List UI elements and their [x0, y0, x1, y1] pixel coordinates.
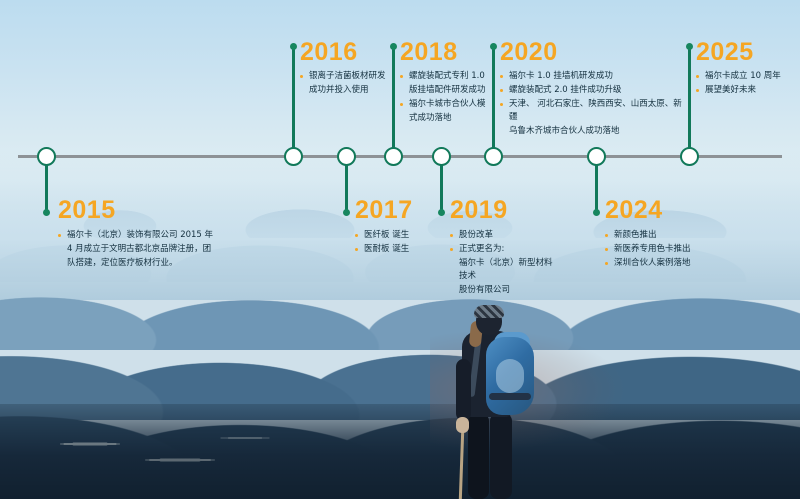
milestone-item: 深圳合伙人案例落地 — [605, 257, 735, 270]
timeline-infographic: 2016 银离子洁菌板材研发 成功并投入使用 2018 螺旋装配式专利 1.0 … — [0, 0, 800, 499]
milestone-item: 医纤板 诞生 — [355, 229, 440, 242]
hiker-leg-right — [490, 413, 512, 499]
milestone-item: 医耐板 诞生 — [355, 243, 440, 256]
backpack-panel — [496, 359, 524, 393]
milestone-item: 正式更名为: — [450, 243, 560, 256]
milestone-year-2016: 2016 — [300, 40, 392, 65]
stem-end-dot-2016 — [290, 43, 297, 50]
milestone-year-2015: 2015 — [58, 198, 238, 223]
milestone-item: 新颜色推出 — [605, 229, 735, 242]
backpack-belt — [489, 393, 531, 400]
milestone-year-2018: 2018 — [400, 40, 495, 65]
timeline-node-2020[interactable] — [484, 147, 503, 166]
trekking-pole — [459, 425, 465, 499]
milestone-item: 天津、 河北石家庄、陕西西安、山西太原、新疆 — [500, 98, 690, 124]
stem-end-dot-2017 — [343, 209, 350, 216]
timeline-node-2019[interactable] — [432, 147, 451, 166]
milestone-2025[interactable]: 2025 福尔卡成立 10 周年 展望美好未来 — [696, 40, 796, 98]
timeline-node-2015[interactable] — [37, 147, 56, 166]
milestone-item: 螺旋装配式 2.0 挂件成功升级 — [500, 84, 690, 97]
hiker-arm — [456, 359, 471, 421]
milestone-item: 福尔卡 1.0 挂墙机研发成功 — [500, 70, 690, 83]
milestone-items-2016: 银离子洁菌板材研发 成功并投入使用 — [300, 70, 392, 97]
milestone-2016[interactable]: 2016 银离子洁菌板材研发 成功并投入使用 — [300, 40, 392, 98]
milestone-item-cont: 4 月成立于文明古都北京品牌注册，团 — [58, 243, 238, 256]
milestone-items-2015: 福尔卡（北京）装饰有限公司 2015 年 4 月成立于文明古都北京品牌注册，团 … — [58, 229, 238, 270]
milestone-item-cont: 式成功落地 — [400, 112, 495, 125]
milestone-items-2017: 医纤板 诞生 医耐板 诞生 — [355, 229, 440, 256]
milestone-item-cont: 队搭建，定位医疗板材行业。 — [58, 257, 238, 270]
winding-road — [30, 430, 280, 480]
milestone-item-cont: 股份有限公司 — [450, 284, 560, 297]
milestone-item-cont: 版挂墙配件研发成功 — [400, 84, 495, 97]
hiker-cap — [474, 305, 504, 318]
milestone-2017[interactable]: 2017 医纤板 诞生 医耐板 诞生 — [355, 198, 440, 257]
milestone-items-2025: 福尔卡成立 10 周年 展望美好未来 — [696, 70, 796, 97]
milestone-year-2017: 2017 — [355, 198, 440, 223]
timeline-node-2024[interactable] — [587, 147, 606, 166]
hiker-hand — [456, 417, 469, 433]
milestone-items-2020: 福尔卡 1.0 挂墙机研发成功 螺旋装配式 2.0 挂件成功升级 天津、 河北石… — [500, 70, 690, 138]
milestone-item: 福尔卡（北京）装饰有限公司 2015 年 — [58, 229, 238, 242]
milestone-2015[interactable]: 2015 福尔卡（北京）装饰有限公司 2015 年 4 月成立于文明古都北京品牌… — [58, 198, 238, 271]
milestone-items-2019: 股份改革 正式更名为: 福尔卡（北京）新型材料技术 股份有限公司 — [450, 229, 560, 297]
milestone-2024[interactable]: 2024 新颜色推出 新医养专用色卡推出 深圳合伙人案例落地 — [605, 198, 735, 271]
milestone-items-2024: 新颜色推出 新医养专用色卡推出 深圳合伙人案例落地 — [605, 229, 735, 270]
milestone-year-2024: 2024 — [605, 198, 735, 223]
milestone-item: 银离子洁菌板材研发 — [300, 70, 392, 83]
milestone-item: 螺旋装配式专利 1.0 — [400, 70, 495, 83]
milestone-item: 福尔卡成立 10 周年 — [696, 70, 796, 83]
timeline-node-2017[interactable] — [337, 147, 356, 166]
hiker-figure — [432, 307, 552, 499]
milestone-item-cont: 福尔卡（北京）新型材料技术 — [450, 257, 560, 283]
milestone-2018[interactable]: 2018 螺旋装配式专利 1.0 版挂墙配件研发成功 福尔卡城市合伙人模 式成功… — [400, 40, 495, 126]
milestone-item: 福尔卡城市合伙人模 — [400, 98, 495, 111]
stem-2016 — [292, 46, 295, 156]
milestone-item: 展望美好未来 — [696, 84, 796, 97]
milestone-item: 股份改革 — [450, 229, 560, 242]
stem-2018 — [392, 46, 395, 156]
timeline-node-2016[interactable] — [284, 147, 303, 166]
milestone-year-2020: 2020 — [500, 40, 690, 65]
milestone-year-2025: 2025 — [696, 40, 796, 65]
stem-end-dot-2015 — [43, 209, 50, 216]
milestone-item: 新医养专用色卡推出 — [605, 243, 735, 256]
timeline-node-2018[interactable] — [384, 147, 403, 166]
milestone-2020[interactable]: 2020 福尔卡 1.0 挂墙机研发成功 螺旋装配式 2.0 挂件成功升级 天津… — [500, 40, 690, 139]
timeline-node-2025[interactable] — [680, 147, 699, 166]
milestone-item-cont: 成功并投入使用 — [300, 84, 392, 97]
milestone-items-2018: 螺旋装配式专利 1.0 版挂墙配件研发成功 福尔卡城市合伙人模 式成功落地 — [400, 70, 495, 125]
milestone-year-2019: 2019 — [450, 198, 560, 223]
stem-end-dot-2024 — [593, 209, 600, 216]
milestone-item-cont: 乌鲁木齐城市合伙人成功落地 — [500, 125, 690, 138]
milestone-2019[interactable]: 2019 股份改革 正式更名为: 福尔卡（北京）新型材料技术 股份有限公司 — [450, 198, 560, 298]
hiker-leg-left — [468, 413, 489, 499]
